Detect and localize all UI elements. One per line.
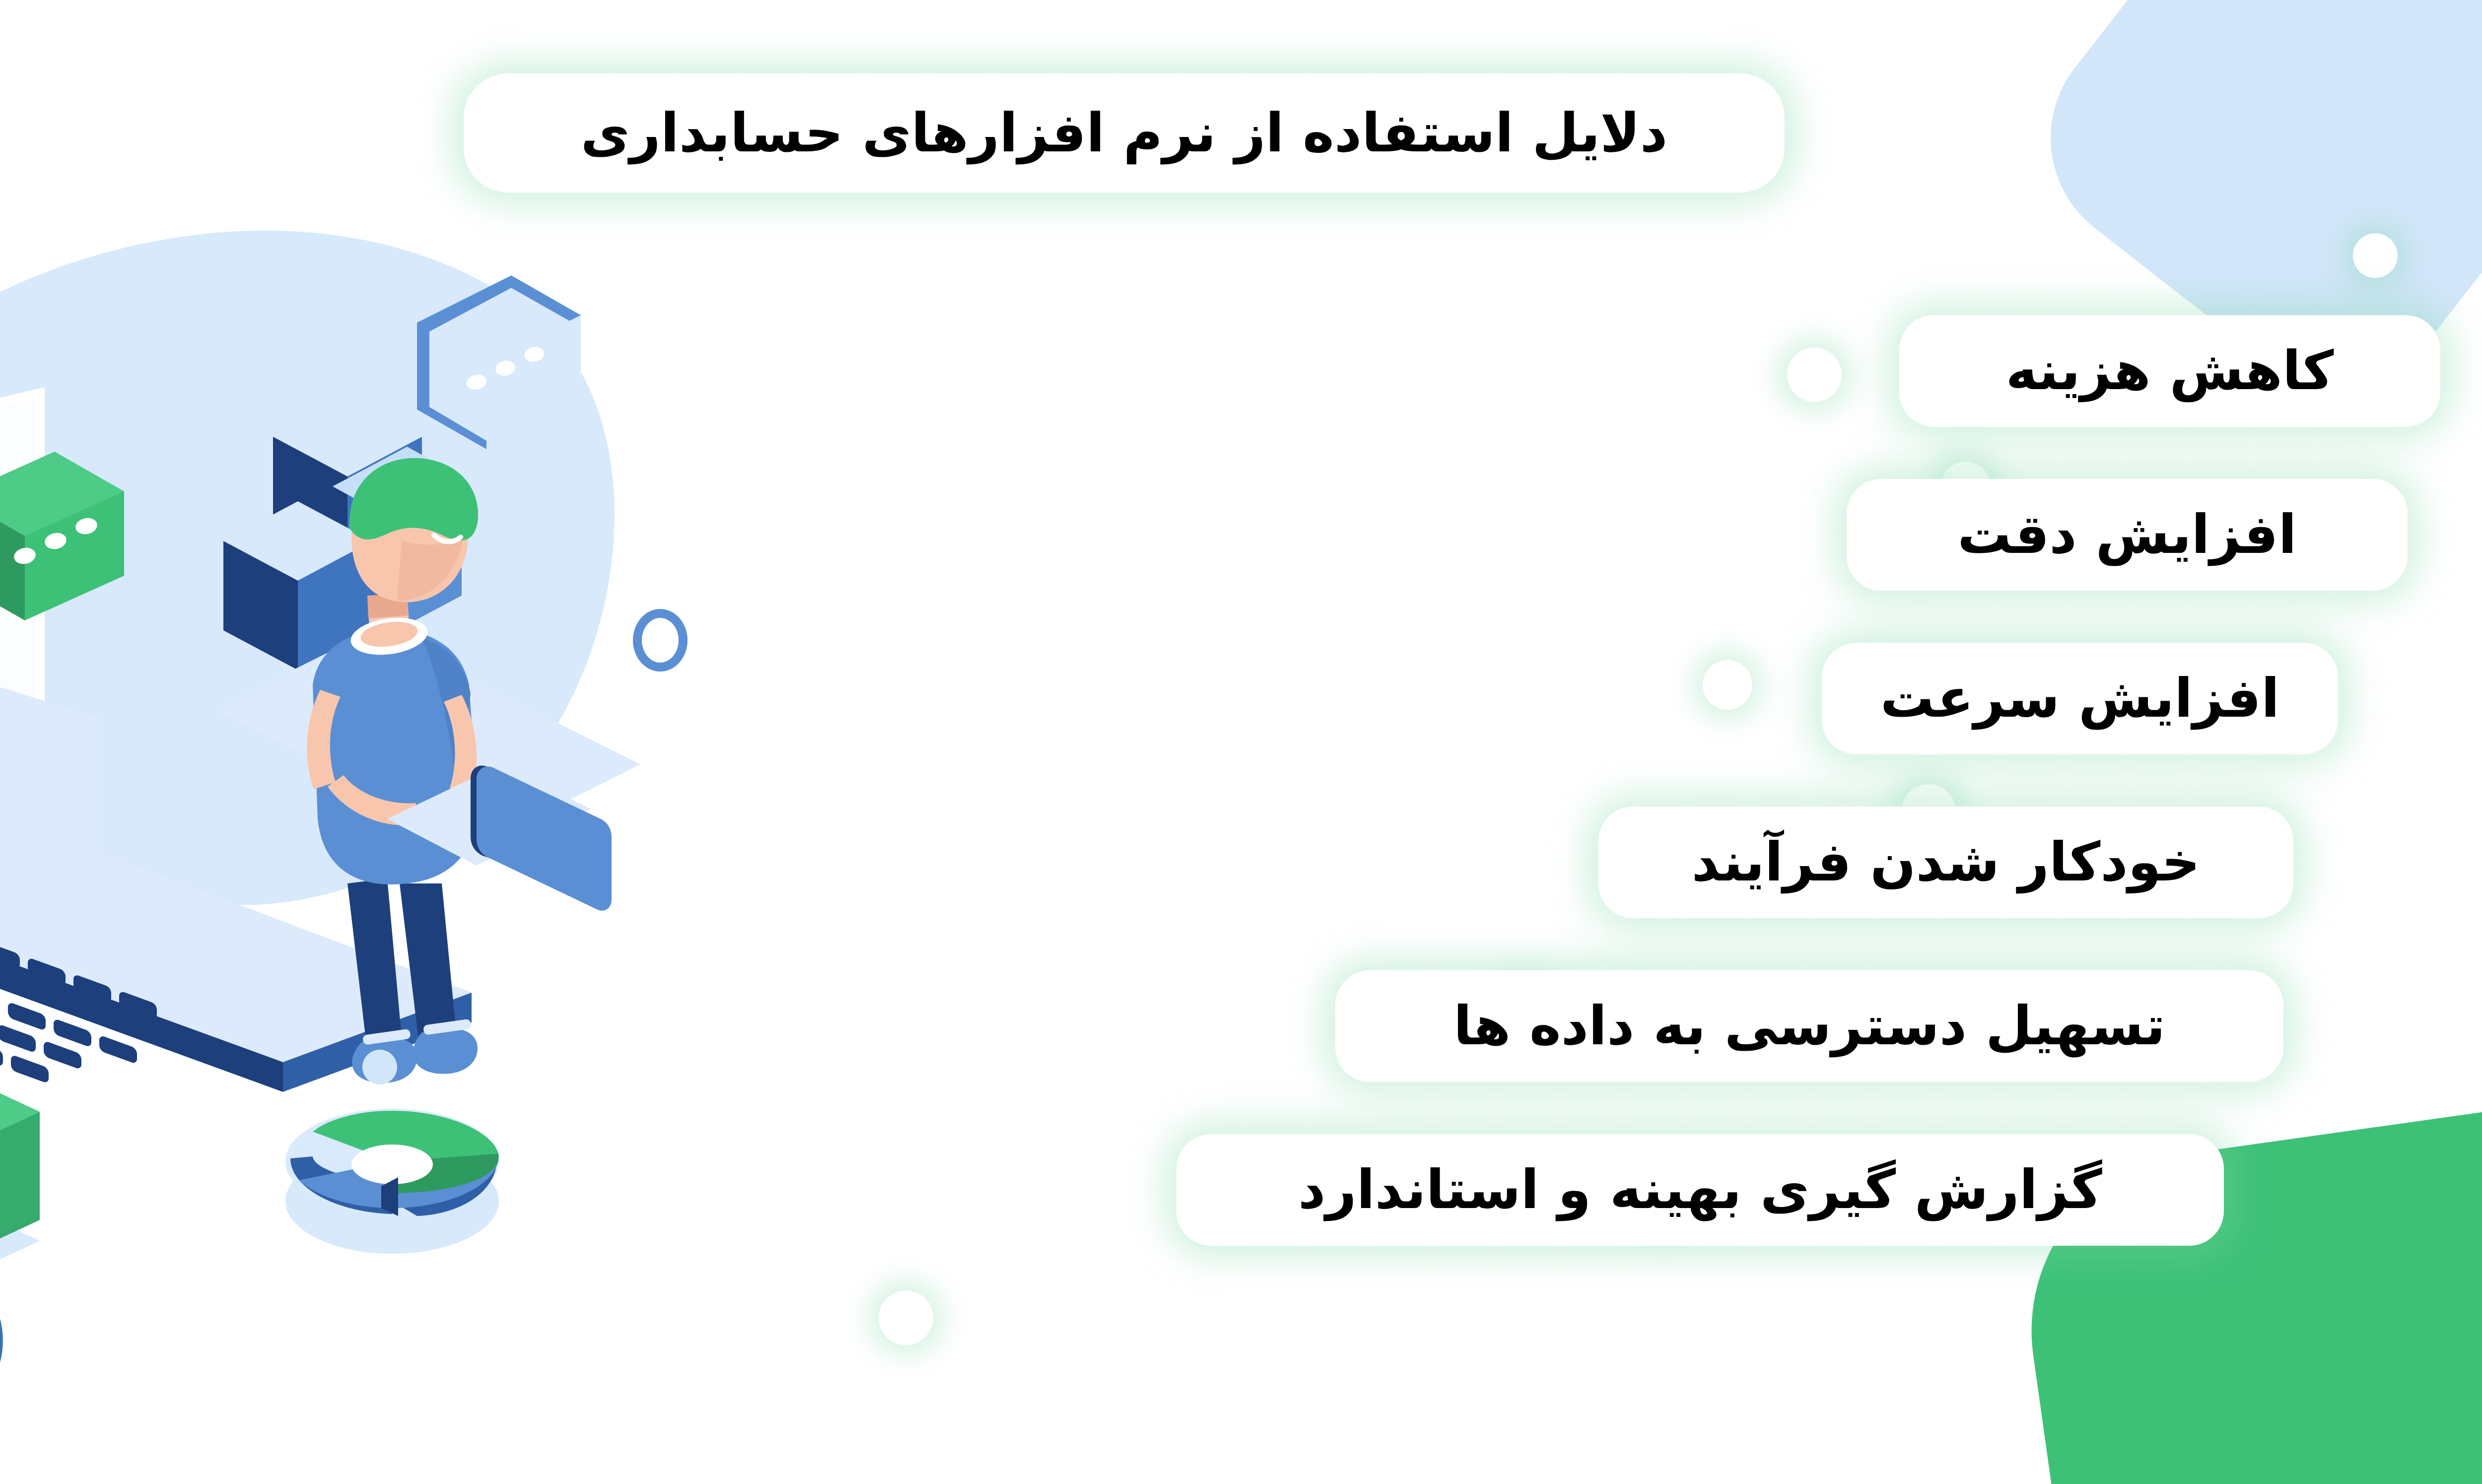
page-title: دلایل استفاده از نرم افزارهای حسابداری [464, 73, 1785, 193]
decor-dot-blue [362, 1050, 397, 1084]
reason-item-3: خودکار شدن فرآیند [1598, 807, 2293, 918]
shoe-right [413, 1028, 478, 1074]
donut-chart-3d [285, 1109, 499, 1254]
reason-item-1: افزایش دقت [1847, 479, 2408, 591]
infographic-canvas: کاردانش دلایل استفاده از نرم افزارهای حس… [0, 0, 2482, 1484]
reason-item-4: تسهیل دسترسی به داده ها [1335, 970, 2283, 1082]
decor-dot [879, 1290, 933, 1345]
isometric-accounting-software-illustration [0, 149, 819, 1390]
decor-dot [2353, 233, 2398, 278]
blue-circle-outline [637, 613, 683, 667]
decor-dot [1703, 660, 1752, 710]
reason-item-2: افزایش سرعت [1822, 643, 2338, 754]
reason-item-0: کاهش هزینه [1899, 315, 2440, 427]
reason-item-5: گزارش گیری بهینه و استاندارد [1176, 1134, 2224, 1246]
decor-dot [1787, 347, 1842, 402]
